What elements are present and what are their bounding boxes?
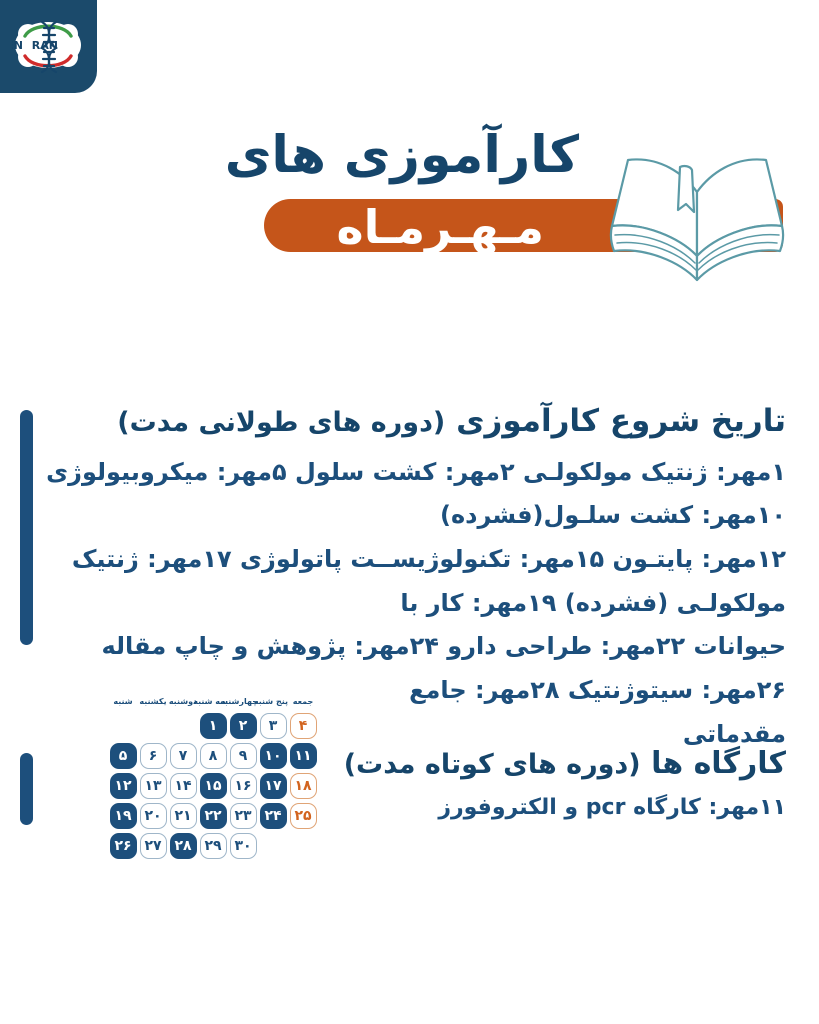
weekday-label: سه شنبه <box>198 697 228 706</box>
calendar-day-label: ۲۷ <box>140 833 167 859</box>
calendar-weekday-header: شنبه یکشنبه دوشنبه سه شنبه چهارشنبه پنج … <box>108 697 346 706</box>
calendar-day-۶[interactable]: ۶ <box>138 742 168 770</box>
calendar-day-۲۱[interactable]: ۲۱ <box>168 802 198 830</box>
calendar-day-label: ۳ <box>260 713 287 739</box>
calendar-day-label: ۱۶ <box>230 773 257 799</box>
page-title-line2: مـهـرمـاه <box>336 203 544 251</box>
calendar-day-۱۰[interactable]: ۱۰ <box>258 742 288 770</box>
calendar-day-label: ۱۱ <box>290 743 317 769</box>
calendar-week-row: ۱۲۳۴ <box>108 711 346 741</box>
calendar-day-۱۴[interactable]: ۱۴ <box>168 772 198 800</box>
calendar-day-label: ۴ <box>290 713 317 739</box>
calendar-day-label: ۵ <box>110 743 137 769</box>
weekday-label: چهارشنبه <box>228 697 258 706</box>
weekday-label: شنبه <box>108 697 138 706</box>
long-term-heading-main: تاریخ شروع کارآموزی <box>456 403 786 439</box>
calendar-day-۱[interactable]: ۱ <box>198 712 228 740</box>
calendar-day-۲۴[interactable]: ۲۴ <box>258 802 288 830</box>
calendar-body: ۱۲۳۴۵۶۷۸۹۱۰۱۱۱۲۱۳۱۴۱۵۱۶۱۷۱۸۱۹۲۰۲۱۲۲۲۳۲۴۲… <box>108 711 346 861</box>
short-term-heading-sub: (دوره های کوتاه مدت) <box>344 749 641 780</box>
logo-text-left: GEN <box>12 39 23 52</box>
calendar-day-۲۷[interactable]: ۲۷ <box>138 832 168 860</box>
calendar-cell-empty <box>138 712 168 740</box>
calendar-cell-empty <box>258 832 288 860</box>
calendar-week-row: ۲۶۲۷۲۸۲۹۳۰ <box>108 831 346 861</box>
calendar-day-۲۶[interactable]: ۲۶ <box>108 832 138 860</box>
calendar-day-label <box>110 713 137 739</box>
calendar-day-label: ۲۳ <box>230 803 257 829</box>
calendar-cell-empty <box>288 832 318 860</box>
calendar-day-label: ۲۵ <box>290 803 317 829</box>
calendar-day-label: ۲۸ <box>170 833 197 859</box>
open-book-icon <box>602 134 792 299</box>
calendar-week-row: ۱۹۲۰۲۱۲۲۲۳۲۴۲۵ <box>108 801 346 831</box>
calendar-day-label: ۱۰ <box>260 743 287 769</box>
calendar-cell-empty <box>108 712 138 740</box>
calendar-day-۵[interactable]: ۵ <box>108 742 138 770</box>
calendar-day-label: ۲۱ <box>170 803 197 829</box>
calendar-day-۱۷[interactable]: ۱۷ <box>258 772 288 800</box>
calendar-day-label: ۹ <box>230 743 257 769</box>
calendar-day-۹[interactable]: ۹ <box>228 742 258 770</box>
calendar-day-۲۵[interactable]: ۲۵ <box>288 802 318 830</box>
course-line: ۱۲مهر: پایتـون ۱۵مهر: تکنولوژیســت پاتول… <box>22 538 786 625</box>
calendar-day-label: ۱ <box>200 713 227 739</box>
calendar-day-label: ۱۳ <box>140 773 167 799</box>
calendar-day-۲۳[interactable]: ۲۳ <box>228 802 258 830</box>
calendar-day-label: ۶ <box>140 743 167 769</box>
calendar-day-label: ۱۴ <box>170 773 197 799</box>
logo-text-right: RAN <box>32 39 58 52</box>
calendar-day-۷[interactable]: ۷ <box>168 742 198 770</box>
calendar-day-۲۲[interactable]: ۲۲ <box>198 802 228 830</box>
calendar-day-۱۶[interactable]: ۱۶ <box>228 772 258 800</box>
calendar-day-۱۸[interactable]: ۱۸ <box>288 772 318 800</box>
calendar-day-۱۵[interactable]: ۱۵ <box>198 772 228 800</box>
calendar-day-label <box>290 833 317 859</box>
calendar-day-label: ۲۲ <box>200 803 227 829</box>
section-accent-bar-long <box>20 410 33 645</box>
long-term-heading: تاریخ شروع کارآموزی (دوره های طولانی مدت… <box>0 402 819 441</box>
calendar-day-۱۹[interactable]: ۱۹ <box>108 802 138 830</box>
calendar-day-label: ۱۷ <box>260 773 287 799</box>
calendar-day-۴[interactable]: ۴ <box>288 712 318 740</box>
calendar-day-label: ۲۶ <box>110 833 137 859</box>
calendar-day-label: ۷ <box>170 743 197 769</box>
calendar-day-۳۰[interactable]: ۳۰ <box>228 832 258 860</box>
calendar-day-۸[interactable]: ۸ <box>198 742 228 770</box>
weekday-label: یکشنبه <box>138 697 168 706</box>
calendar-week-row: ۵۶۷۸۹۱۰۱۱ <box>108 741 346 771</box>
calendar-week-row: ۱۲۱۳۱۴۱۵۱۶۱۷۱۸ <box>108 771 346 801</box>
calendar-day-label: ۲۹ <box>200 833 227 859</box>
calendar-day-۱۱[interactable]: ۱۱ <box>288 742 318 770</box>
calendar-day-label: ۸ <box>200 743 227 769</box>
calendar-day-label: ۱۲ <box>110 773 137 799</box>
calendar-day-label <box>260 833 287 859</box>
calendar-day-label: ۲ <box>230 713 257 739</box>
short-term-heading-main: کارگاه ها <box>651 746 786 781</box>
calendar-day-۱۳[interactable]: ۱۳ <box>138 772 168 800</box>
weekday-label: پنج شنبه <box>258 697 288 706</box>
calendar-day-label: ۳۰ <box>230 833 257 859</box>
page-title-line1: کارآموزی های <box>225 128 579 184</box>
course-line: ۱مهر: ژنتیک مولکولـی ۲مهر: کشت سلول ۵مهر… <box>22 451 786 538</box>
calendar-day-label: ۱۹ <box>110 803 137 829</box>
calendar-day-۳[interactable]: ۳ <box>258 712 288 740</box>
calendar-day-label: ۱۵ <box>200 773 227 799</box>
weekday-label: دوشنبه <box>168 697 198 706</box>
calendar-day-label: ۱۸ <box>290 773 317 799</box>
calendar-day-۱۲[interactable]: ۱۲ <box>108 772 138 800</box>
calendar-day-label <box>140 713 167 739</box>
calendar-day-label <box>170 713 197 739</box>
calendar-cell-empty <box>168 712 198 740</box>
gen-iran-logo: GEN RAN <box>12 14 84 76</box>
calendar-day-۲[interactable]: ۲ <box>228 712 258 740</box>
calendar-day-۲۰[interactable]: ۲۰ <box>138 802 168 830</box>
logo-badge: GEN RAN <box>0 0 97 93</box>
month-calendar: شنبه یکشنبه دوشنبه سه شنبه چهارشنبه پنج … <box>108 697 346 861</box>
calendar-day-۲۸[interactable]: ۲۸ <box>168 832 198 860</box>
title-area: کارآموزی های مـهـرمـاه <box>0 128 819 298</box>
calendar-day-label: ۲۰ <box>140 803 167 829</box>
calendar-day-۲۹[interactable]: ۲۹ <box>198 832 228 860</box>
weekday-label: جمعه <box>288 697 318 706</box>
calendar-day-label: ۲۴ <box>260 803 287 829</box>
long-term-heading-sub: (دوره های طولانی مدت) <box>117 407 445 438</box>
section-accent-bar-short <box>20 753 33 825</box>
